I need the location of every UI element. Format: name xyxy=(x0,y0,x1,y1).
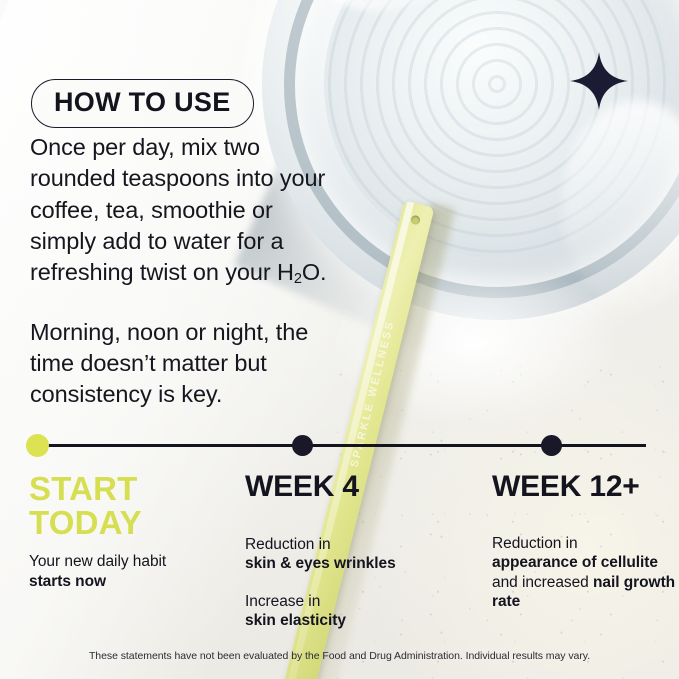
timeline-detail-week-12: Reduction in appearance of cellulite and… xyxy=(492,534,677,612)
timeline-detail-week-4-a-normal: Reduction in xyxy=(245,536,331,553)
timeline-detail-start-normal: Your new daily habit xyxy=(29,553,166,570)
instructions-paragraph-2: Morning, noon or night, the time doesn’t… xyxy=(30,317,340,411)
timeline-detail-week-4-b-normal: Increase in xyxy=(245,593,320,610)
timeline-heading-start: START TODAY xyxy=(29,472,229,539)
timeline-detail-week-4-b: Increase in skin elasticity xyxy=(245,592,470,631)
timeline-detail-start: Your new daily habit starts now xyxy=(29,552,229,591)
instructions-paragraph-1-tail: O. xyxy=(302,259,327,285)
timeline-heading-start-line2: TODAY xyxy=(29,504,142,541)
timeline-detail-week-4-b-bold: skin elasticity xyxy=(245,612,346,629)
timeline-dot-week-12 xyxy=(541,435,562,456)
timeline-dot-start xyxy=(26,434,49,457)
timeline-detail-start-bold: starts now xyxy=(29,573,106,590)
timeline-detail-week-12-normal-2: and increased xyxy=(492,574,593,591)
timeline-detail-week-4-a-bold: skin & eyes wrinkles xyxy=(245,555,396,572)
timeline-detail-week-12-bold: appearance of cellulite xyxy=(492,554,658,571)
h2o-subscript: 2 xyxy=(294,271,302,287)
instructions-block: Once per day, mix two rounded teaspoons … xyxy=(30,132,340,410)
timeline-column-week-12: WEEK 12+ Reduction in appearance of cell… xyxy=(492,472,677,612)
timeline-detail-week-4-a: Reduction in skin & eyes wrinkles xyxy=(245,535,470,574)
instructions-paragraph-1: Once per day, mix two rounded teaspoons … xyxy=(30,132,340,290)
how-to-use-label: HOW TO USE xyxy=(54,89,231,116)
spoon-hole xyxy=(410,215,421,226)
timeline-heading-start-line1: START xyxy=(29,470,138,507)
sparkle-star-icon xyxy=(570,52,628,110)
timeline-heading-week-12: WEEK 12+ xyxy=(492,472,677,503)
instructions-paragraph-1-text: Once per day, mix two rounded teaspoons … xyxy=(30,134,325,285)
how-to-use-badge: HOW TO USE xyxy=(31,79,254,128)
timeline-heading-week-4: WEEK 4 xyxy=(245,472,470,503)
timeline-detail-week-12-normal: Reduction in xyxy=(492,535,578,552)
promo-infographic: SPARKLE WELLNESS HOW TO USE Once per day… xyxy=(0,0,679,679)
legal-disclaimer: These statements have not been evaluated… xyxy=(0,650,679,662)
timeline-column-start: START TODAY Your new daily habit starts … xyxy=(29,472,229,591)
paragraph-spacer xyxy=(30,290,340,317)
timeline-column-week-4: WEEK 4 Reduction in skin & eyes wrinkles… xyxy=(245,472,470,631)
timeline-dot-week-4 xyxy=(292,435,313,456)
